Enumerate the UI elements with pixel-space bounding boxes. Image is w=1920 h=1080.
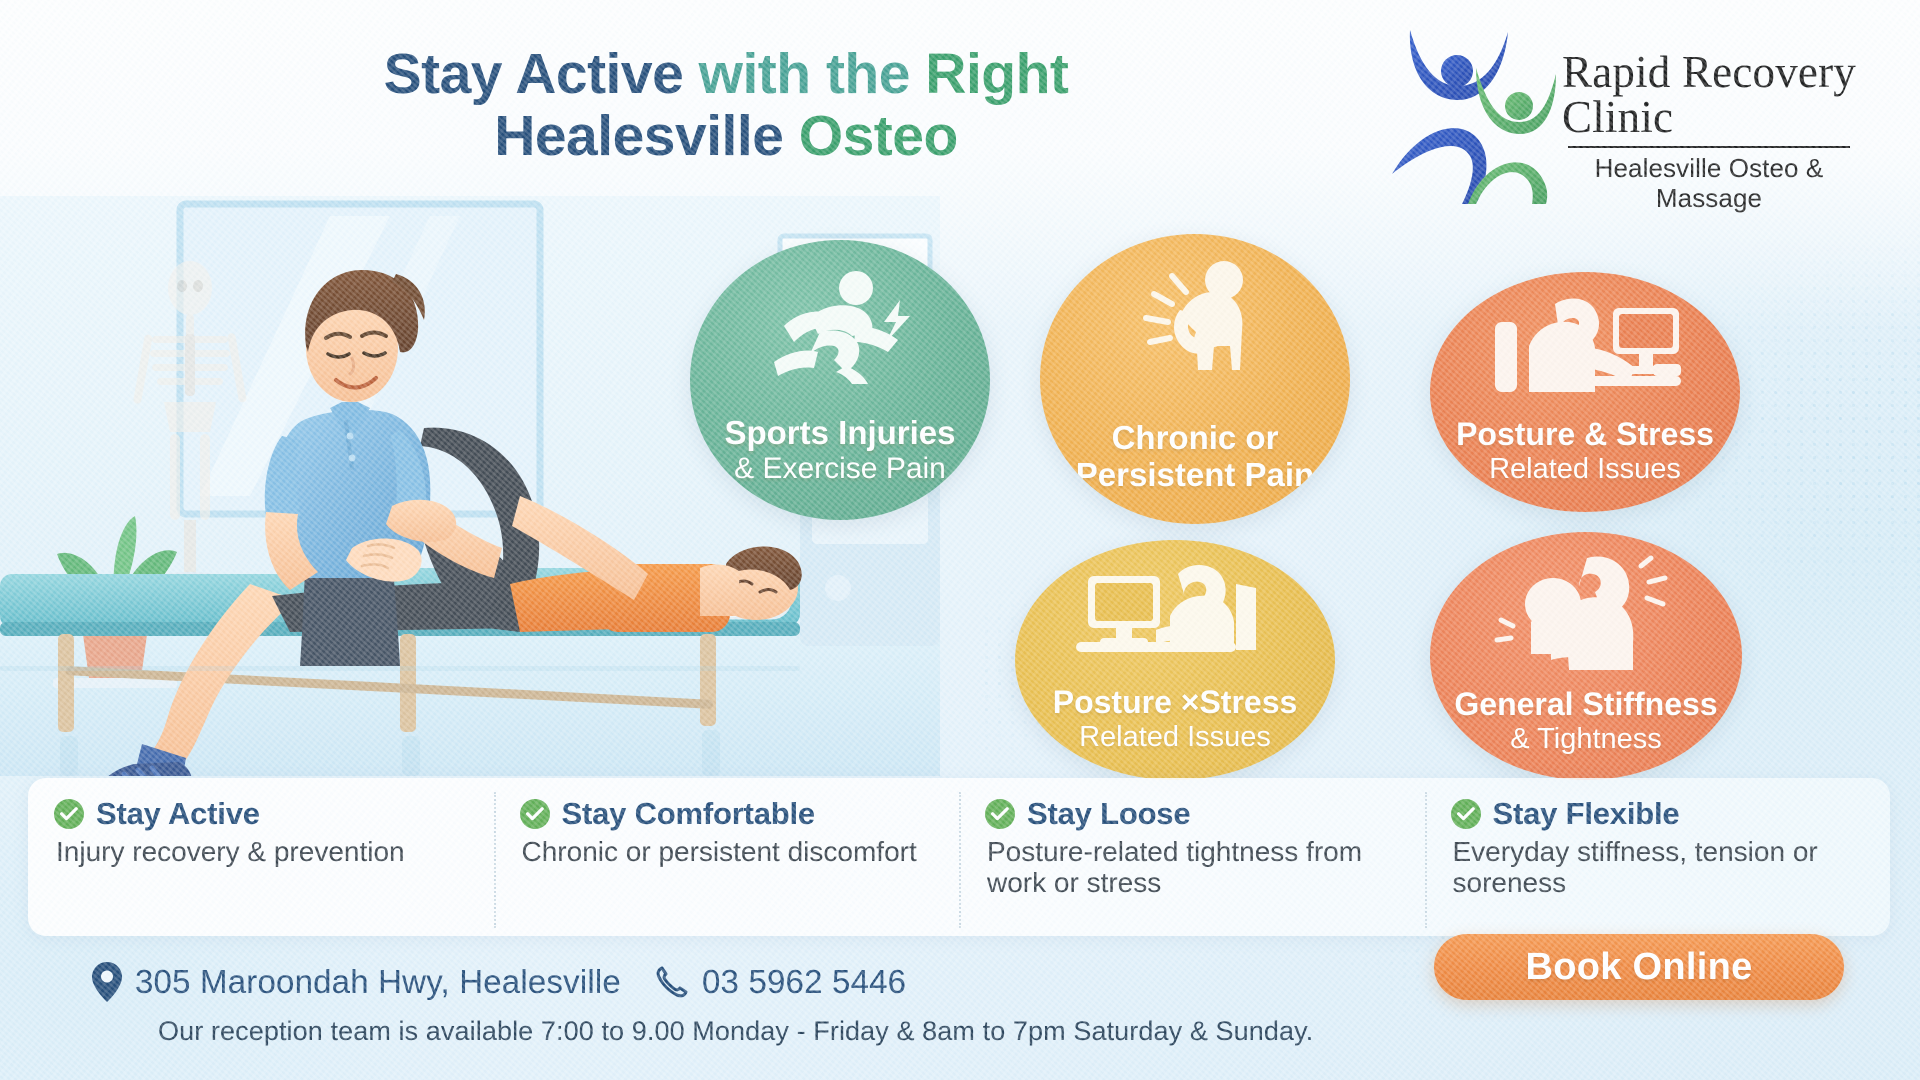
blob-label-line-1: Posture ×Stress xyxy=(1053,684,1298,721)
computer-desk-worker-icon xyxy=(1070,554,1280,666)
logo-title-line-1: Rapid Recovery xyxy=(1562,50,1856,95)
logo-subtitle-line-2: Massage xyxy=(1562,184,1856,214)
location-pin-icon xyxy=(92,962,122,1002)
logo-title: Rapid Recovery Clinic xyxy=(1562,50,1856,139)
benefit-description: Chronic or persistent discomfort xyxy=(520,836,940,867)
headline-part-stay-active: Stay Active xyxy=(384,42,684,106)
headline-line-2: Healesville Osteo xyxy=(226,106,1226,168)
benefit-heading: Stay Active xyxy=(54,796,474,832)
phone-text: 03 5962 5446 xyxy=(702,963,906,1001)
blob-label-line-2: Persistent Pain xyxy=(1076,457,1314,494)
phone-handset-icon xyxy=(655,965,689,999)
blob-label-line-1: General Stiffness xyxy=(1454,686,1717,723)
benefit-title: Stay Flexible xyxy=(1493,796,1680,832)
category-blob-chronic-pain[interactable]: Chronic or Persistent Pain xyxy=(1040,234,1350,524)
book-online-button[interactable]: Book Online xyxy=(1434,934,1844,1000)
logo-divider xyxy=(1568,146,1850,148)
logo-subtitle: Healesville Osteo & Massage xyxy=(1562,154,1856,213)
category-blob-sports-injuries[interactable]: Sports Injuries & Exercise Pain xyxy=(690,240,990,520)
headline-part-with-the: with the xyxy=(683,42,925,106)
running-person-icon xyxy=(760,266,920,384)
check-circle-icon xyxy=(1451,799,1481,829)
benefit-item: Stay Active Injury recovery & prevention xyxy=(28,778,494,936)
headline-part-healesville: Healesville xyxy=(494,104,799,168)
check-circle-icon xyxy=(520,799,550,829)
check-circle-icon xyxy=(985,799,1015,829)
logo-subtitle-line-1: Healesville Osteo & xyxy=(1562,154,1856,184)
benefit-description: Injury recovery & prevention xyxy=(54,836,474,867)
address-item[interactable]: 305 Maroondah Hwy, Healesville xyxy=(92,962,621,1002)
benefit-heading: Stay Comfortable xyxy=(520,796,940,832)
reception-hours-text: Our reception team is available 7:00 to … xyxy=(158,1016,1313,1047)
blob-label-line-1: Chronic or xyxy=(1112,420,1279,457)
blob-label-line-2: & Tightness xyxy=(1510,723,1662,756)
benefit-title: Stay Active xyxy=(96,796,260,832)
logo-text-block: Rapid Recovery Clinic Healesville Osteo … xyxy=(1562,24,1856,213)
category-blob-posture-stress-top[interactable]: Posture & Stress Related Issues xyxy=(1430,272,1740,512)
logo-title-line-2: Clinic xyxy=(1562,95,1856,140)
page-title: Stay Active with the Right Healesville O… xyxy=(226,44,1226,167)
footer-contact-row: 305 Maroondah Hwy, Healesville 03 5962 5… xyxy=(92,962,906,1002)
benefit-description: Posture-related tightness from work or s… xyxy=(985,836,1405,899)
category-blob-posture-stress-bottom[interactable]: Posture ×Stress Related Issues xyxy=(1015,540,1335,780)
benefit-heading: Stay Loose xyxy=(985,796,1405,832)
blob-label-line-1: Posture & Stress xyxy=(1456,416,1714,453)
blob-label-line-1: Sports Injuries xyxy=(724,414,955,452)
parent-carrying-child-icon xyxy=(1491,550,1681,674)
address-text: 305 Maroondah Hwy, Healesville xyxy=(135,963,621,1001)
category-blob-general-stiffness[interactable]: General Stiffness & Tightness xyxy=(1430,532,1742,780)
desk-posture-neck-icon xyxy=(1485,288,1685,406)
benefits-bar: Stay Active Injury recovery & prevention… xyxy=(28,778,1890,936)
headline-part-right: Right xyxy=(925,42,1068,106)
benefit-item: Stay Loose Posture-related tightness fro… xyxy=(959,778,1425,936)
book-online-label: Book Online xyxy=(1525,946,1752,989)
benefit-heading: Stay Flexible xyxy=(1451,796,1871,832)
clinic-logo: Rapid Recovery Clinic Healesville Osteo … xyxy=(1380,24,1878,214)
benefit-description: Everyday stiffness, tension or soreness xyxy=(1451,836,1871,899)
benefit-item: Stay Flexible Everyday stiffness, tensio… xyxy=(1425,778,1891,936)
blob-label-line-2: & Exercise Pain xyxy=(734,452,946,486)
back-pain-person-icon xyxy=(1110,260,1280,392)
rapid-recovery-figures-logo-icon xyxy=(1380,24,1556,204)
check-circle-icon xyxy=(54,799,84,829)
benefit-title: Stay Comfortable xyxy=(562,796,815,832)
benefit-item: Stay Comfortable Chronic or persistent d… xyxy=(494,778,960,936)
poster-canvas: Stay Active with the Right Healesville O… xyxy=(0,0,1920,1080)
phone-item[interactable]: 03 5962 5446 xyxy=(655,963,906,1001)
benefit-title: Stay Loose xyxy=(1027,796,1190,832)
headline-part-osteo: Osteo xyxy=(799,104,958,168)
blob-label-line-2: Related Issues xyxy=(1489,453,1681,486)
blob-label-line-2: Related Issues xyxy=(1079,721,1271,754)
